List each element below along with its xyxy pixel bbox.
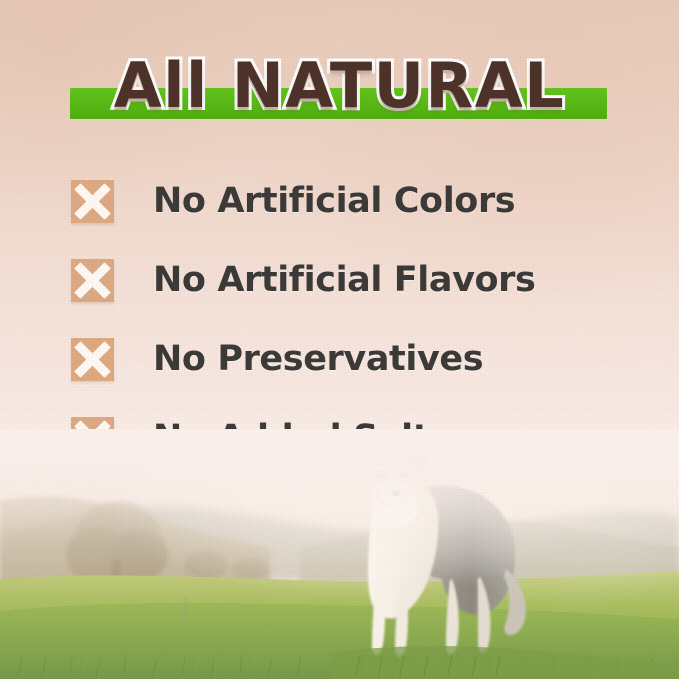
- all-natural-feature-panel: All NATURAL No Artificial Colors No Arti…: [0, 0, 679, 679]
- list-item: No Preservatives: [71, 336, 631, 382]
- claim-label: No Preservatives: [153, 338, 483, 381]
- claim-label: No Artificial Colors: [153, 180, 515, 223]
- list-item: No Artificial Colors: [71, 178, 631, 224]
- claim-label: No Artificial Flavors: [153, 259, 535, 302]
- x-mark-icon: [71, 338, 114, 381]
- list-item: No Artificial Flavors: [71, 257, 631, 303]
- dog-landscape-photo: [0, 429, 679, 679]
- x-mark-icon: [71, 259, 114, 302]
- x-mark-icon: [71, 180, 114, 223]
- page-title: All NATURAL: [0, 48, 679, 124]
- headline-banner: All NATURAL: [0, 48, 679, 136]
- photo-artwork: [0, 429, 679, 679]
